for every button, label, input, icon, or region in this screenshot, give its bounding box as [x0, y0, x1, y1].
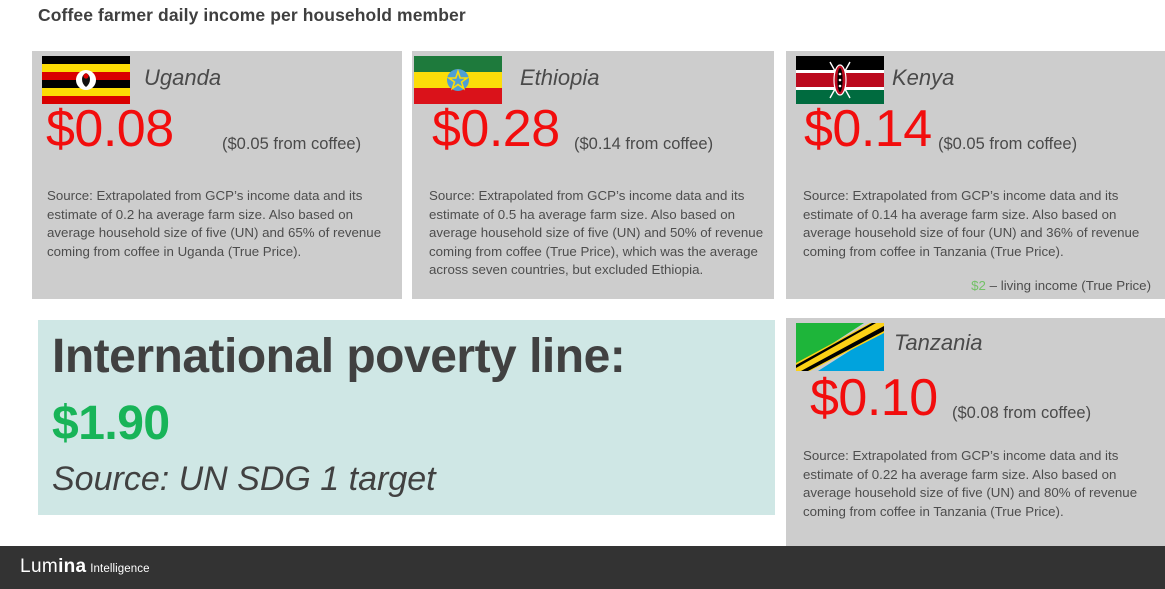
living-income-label: – living income (True Price)	[990, 278, 1151, 293]
from-coffee-amount: ($0.08 from coffee)	[952, 404, 1091, 423]
card-header: Kenya	[786, 51, 1165, 105]
poverty-line-panel: International poverty line: $1.90 Source…	[38, 320, 775, 515]
country-name: Kenya	[892, 65, 954, 91]
source-note: Source: Extrapolated from GCP’s income d…	[429, 187, 766, 280]
amount-row: $0.28 ($0.14 from coffee)	[412, 111, 774, 169]
uganda-flag-icon	[42, 56, 130, 104]
card-header: Tanzania	[786, 318, 1165, 372]
slide-canvas: Coffee farmer daily income per household…	[0, 0, 1165, 589]
card-header: Ethiopia	[412, 51, 774, 105]
country-card-tanzania: Tanzania $0.10 ($0.08 from coffee) Sourc…	[786, 318, 1165, 546]
page-title: Coffee farmer daily income per household…	[38, 5, 938, 26]
living-income-value: $2	[971, 278, 986, 293]
logo-text-bold: ina	[58, 556, 86, 577]
logo-suffix: Intelligence	[90, 563, 149, 575]
amount-row: $0.08 ($0.05 from coffee)	[32, 111, 402, 169]
daily-income-amount: $0.10	[810, 372, 938, 424]
source-note: Source: Extrapolated from GCP’s income d…	[803, 447, 1151, 521]
logo-text-light: Lum	[20, 556, 58, 577]
from-coffee-amount: ($0.14 from coffee)	[574, 135, 713, 154]
amount-row: $0.14 ($0.05 from coffee)	[786, 111, 1165, 169]
daily-income-amount: $0.08	[46, 103, 174, 155]
poverty-line-title: International poverty line:	[52, 329, 625, 384]
poverty-line-value: $1.90	[52, 396, 170, 451]
country-name: Tanzania	[894, 330, 982, 356]
from-coffee-amount: ($0.05 from coffee)	[222, 135, 361, 154]
daily-income-amount: $0.28	[432, 103, 560, 155]
country-card-ethiopia: Ethiopia $0.28 ($0.14 from coffee) Sourc…	[412, 51, 774, 299]
source-note: Source: Extrapolated from GCP’s income d…	[47, 187, 390, 261]
daily-income-amount: $0.14	[804, 103, 932, 155]
amount-row: $0.10 ($0.08 from coffee)	[786, 378, 1165, 436]
ethiopia-flag-icon	[414, 56, 502, 104]
poverty-line-source: Source: UN SDG 1 target	[52, 460, 436, 499]
source-note: Source: Extrapolated from GCP’s income d…	[803, 187, 1155, 261]
kenya-flag-icon	[796, 56, 884, 104]
tanzania-flag-icon	[796, 323, 884, 371]
country-card-kenya: Kenya $0.14 ($0.05 from coffee) Source: …	[786, 51, 1165, 299]
from-coffee-amount: ($0.05 from coffee)	[938, 135, 1077, 154]
card-header: Uganda	[32, 51, 402, 105]
country-card-uganda: Uganda $0.08 ($0.05 from coffee) Source:…	[32, 51, 402, 299]
country-name: Ethiopia	[520, 65, 600, 91]
living-income-note: $2 – living income (True Price)	[971, 278, 1151, 293]
footer-bar: LuminaIntelligence	[0, 546, 1165, 589]
country-name: Uganda	[144, 65, 221, 91]
lumina-intelligence-logo: LuminaIntelligence	[20, 556, 150, 578]
